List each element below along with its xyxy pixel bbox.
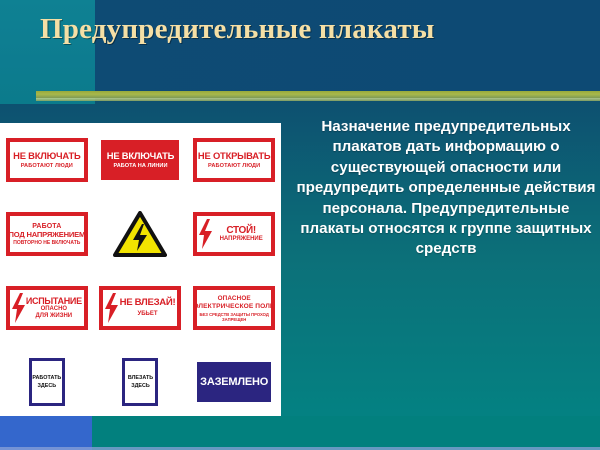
sign-line-3: ПОВТОРНО НЕ ВКЛЮЧАТЬ [13,240,80,246]
sign-ispytanie-opasno-dlya-zhizni: ИСПЫТАНИЕ ОПАСНО ДЛЯ ЖИЗНИ [6,286,88,330]
sign-cell: НЕ ОТКРЫВАТЬ РАБОТАЮТ ЛЮДИ [187,123,281,197]
title-underline-bar [36,91,600,98]
sign-line-1: РАБОТАТЬ [32,374,61,382]
sign-ne-vklyuchat-rabota-na-linii: НЕ ВКЛЮЧАТЬ РАБОТА НА ЛИНИИ [99,138,181,182]
sign-cell: РАБОТАТЬ ЗДЕСЬ [0,345,94,419]
high-voltage-triangle-icon [113,211,167,257]
page-title: Предупредительные плакаты [40,14,585,45]
title-underline-bar-secondary [36,98,600,101]
sign-cell: НЕ ВКЛЮЧАТЬ РАБОТА НА ЛИНИИ [94,123,188,197]
sign-line-1: СТОЙ! [226,226,256,236]
sign-line-1: РАБОТА [32,223,61,230]
sign-cell: РАБОТА ПОД НАПРЯЖЕНИЕМ ПОВТОРНО НЕ ВКЛЮЧ… [0,197,94,271]
lightning-bolt-icon [199,219,212,249]
lightning-bolt-icon [105,293,118,323]
sign-cell: ОПАСНОЕ ЭЛЕКТРИЧЕСКОЕ ПОЛЕ БЕЗ СРЕДСТВ З… [187,271,281,345]
sign-line-2: УБЬЕТ [137,311,157,318]
sign-ne-vlezay-ubyet: НЕ ВЛЕЗАЙ! УБЬЕТ [99,286,181,330]
sign-line-1: НЕ ОТКРЫВАТЬ [198,151,270,161]
sign-zazemleno: ЗАЗЕМЛЕНО [197,362,271,402]
sign-line-1: НЕ ВКЛЮЧАТЬ [13,151,80,161]
sign-line-3: ДЛЯ ЖИЗНИ [36,313,73,320]
sign-line-2: РАБОТАЮТ ЛЮДИ [208,163,260,170]
sign-line-2: ОПАСНО [41,306,68,313]
sign-stoy-napryazhenie: СТОЙ! НАПРЯЖЕНИЕ [193,212,275,256]
bottom-band-blue-accent [0,416,92,450]
sign-line-1: НЕ ВКЛЮЧАТЬ [107,150,174,161]
sign-warning-triangle-high-voltage [113,211,167,257]
sign-rabotat-zdes: РАБОТАТЬ ЗДЕСЬ [29,358,65,406]
safety-signs-grid: НЕ ВКЛЮЧАТЬ РАБОТАЮТ ЛЮДИ НЕ ВКЛЮЧАТЬ РА… [0,123,281,419]
sign-line-2: ЗДЕСЬ [131,382,150,390]
sign-cell: ИСПЫТАНИЕ ОПАСНО ДЛЯ ЖИЗНИ [0,271,94,345]
sign-cell: ЗАЗЕМЛЕНО [187,345,281,419]
sign-cell: НЕ ВКЛЮЧАТЬ РАБОТАЮТ ЛЮДИ [0,123,94,197]
sign-line-1: ИСПЫТАНИЕ [26,296,82,306]
sign-text-block: НЕ ВЛЕЗАЙ! УБЬЕТ [119,298,175,318]
slide-canvas: Предупредительные плакаты Назначение пре… [0,0,600,450]
sign-ne-otkryvat-rabotayut-lyudi: НЕ ОТКРЫВАТЬ РАБОТАЮТ ЛЮДИ [193,138,275,182]
sign-cell: СТОЙ! НАПРЯЖЕНИЕ [187,197,281,271]
sign-cell [94,197,188,271]
sign-line-1: ОПАСНОЕ [218,295,251,302]
sign-line-1: НЕ ВЛЕЗАЙ! [120,298,176,308]
sign-cell: НЕ ВЛЕЗАЙ! УБЬЕТ [94,271,188,345]
sign-line-2: НАПРЯЖЕНИЕ [220,236,263,243]
sign-line-1: ЗАЗЕМЛЕНО [200,376,268,388]
sign-vlezat-zdes: ВЛЕЗАТЬ ЗДЕСЬ [122,358,158,406]
sign-text-block: СТОЙ! НАПРЯЖЕНИЕ [213,226,269,243]
sign-line-2: ЭЛЕКТРИЧЕСКОЕ ПОЛЕ [194,303,275,310]
sign-line-3: БЕЗ СРЕДСТВ ЗАЩИТЫ ПРОХОД ЗАПРЕЩЕН [199,312,269,322]
sign-cell: ВЛЕЗАТЬ ЗДЕСЬ [94,345,188,419]
sign-opasnoe-elektricheskoe-pole: ОПАСНОЕ ЭЛЕКТРИЧЕСКОЕ ПОЛЕ БЕЗ СРЕДСТВ З… [193,286,275,330]
sign-line-2: ПОД НАПРЯЖЕНИЕМ [8,230,85,240]
lightning-bolt-icon [12,293,25,323]
sign-rabota-pod-napryazheniem: РАБОТА ПОД НАПРЯЖЕНИЕМ ПОВТОРНО НЕ ВКЛЮЧ… [6,212,88,256]
sign-line-1: ВЛЕЗАТЬ [128,374,153,382]
sign-line-2: ЗДЕСЬ [38,382,57,390]
sign-line-2: РАБОТАЮТ ЛЮДИ [21,163,73,170]
sign-text-block: ИСПЫТАНИЕ ОПАСНО ДЛЯ ЖИЗНИ [26,296,82,320]
body-paragraph: Назначение предупредительных плакатов да… [296,117,596,260]
sign-line-2: РАБОТА НА ЛИНИИ [114,163,168,170]
safety-signs-panel: НЕ ВКЛЮЧАТЬ РАБОТАЮТ ЛЮДИ НЕ ВКЛЮЧАТЬ РА… [0,123,281,419]
sign-ne-vklyuchat-rabotayut-lyudi: НЕ ВКЛЮЧАТЬ РАБОТАЮТ ЛЮДИ [6,138,88,182]
